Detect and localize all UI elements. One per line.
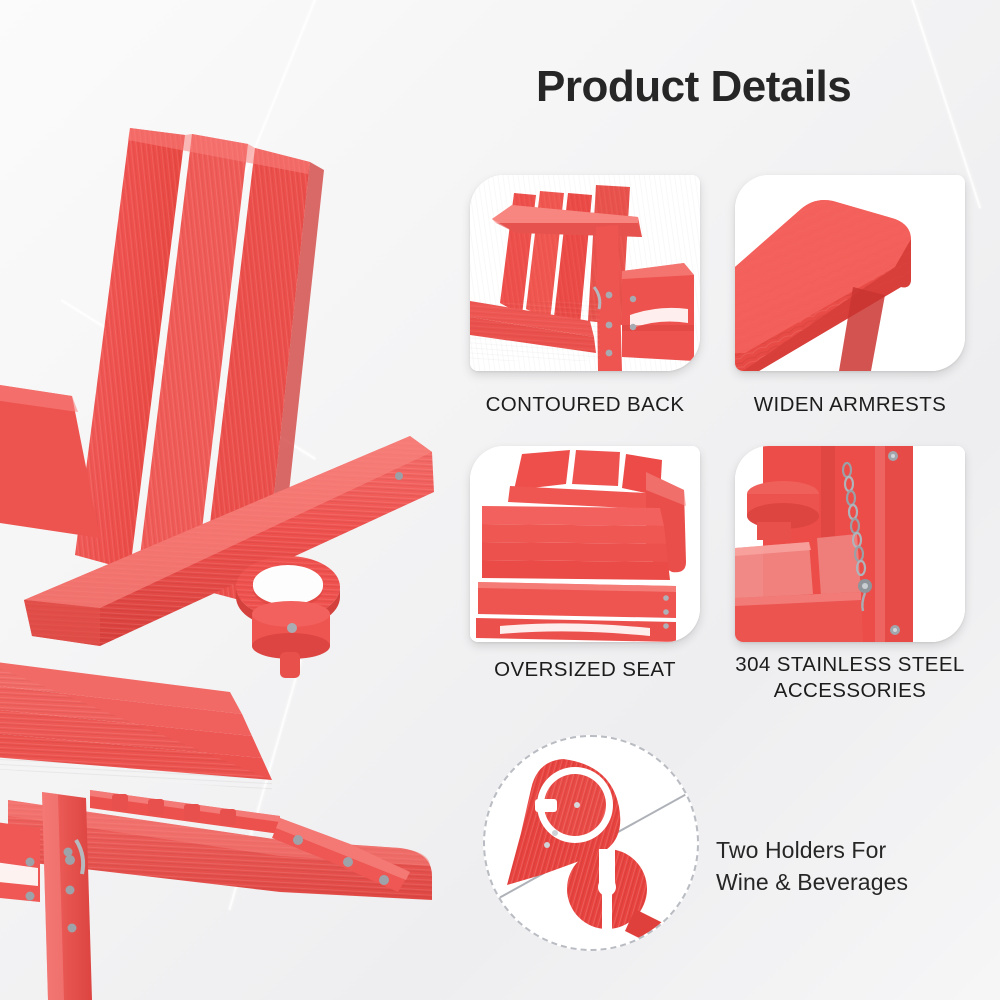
hero-product-photo	[0, 100, 450, 1000]
chair-front-leg	[42, 792, 92, 1000]
feature-card-oversized-seat	[470, 446, 700, 642]
cup-holder-bracket	[252, 601, 330, 678]
feature-image-oversized-seat	[470, 446, 700, 642]
cup-holder-lower	[567, 849, 663, 945]
feature-caption-widen-armrests: WIDEN ARMRESTS	[720, 392, 980, 418]
feature-card-contoured-back	[470, 175, 700, 371]
armrest-screw	[395, 472, 403, 480]
chair-seat-slats	[0, 660, 272, 790]
feature-caption-contoured-back: CONTOURED BACK	[455, 392, 715, 418]
page-title: Product Details	[536, 62, 851, 112]
feature-card-stainless-steel	[735, 446, 965, 642]
product-details-image: Product Details	[0, 0, 1000, 1000]
chair-illustration	[0, 100, 450, 1000]
cup-holder-screw	[287, 623, 297, 633]
feature-image-widen-armrests	[735, 175, 965, 371]
feature-image-contoured-back	[470, 175, 700, 371]
feature-caption-two-holders: Two Holders For Wine & Beverages	[716, 835, 966, 898]
feature-image-two-holders	[483, 735, 699, 951]
feature-caption-oversized-seat: OVERSIZED SEAT	[455, 657, 715, 683]
chair-armrest-rear-left	[0, 382, 100, 538]
feature-image-stainless-steel	[735, 446, 965, 642]
feature-caption-stainless-steel: 304 STAINLESS STEEL ACCESSORIES	[718, 652, 982, 704]
feature-card-widen-armrests	[735, 175, 965, 371]
